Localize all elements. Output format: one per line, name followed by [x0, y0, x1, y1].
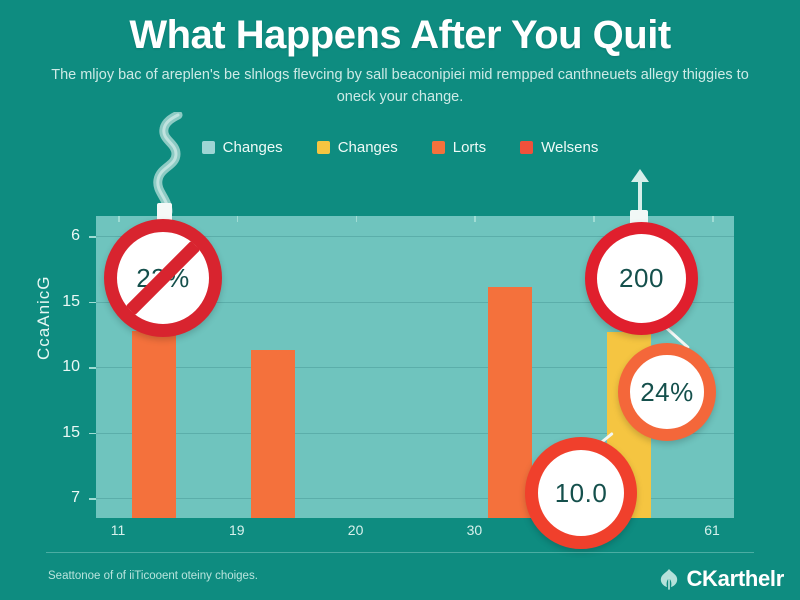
x-tick-label: 11 [111, 522, 126, 538]
x-tick-mark [356, 216, 358, 222]
x-tick-mark [118, 216, 120, 222]
bar[interactable] [251, 350, 295, 518]
legend-item[interactable]: Lorts [432, 139, 486, 156]
value-10-badge[interactable]: 10.0 [525, 437, 637, 549]
chart-legend: ChangesChangesLortsWelsens [0, 139, 800, 156]
footer-note: Seattonoe of of iiTicooent oteiny choige… [48, 570, 258, 582]
legend-swatch [317, 141, 330, 154]
x-tick-mark [593, 216, 595, 222]
legend-label: Lorts [453, 139, 486, 156]
y-tick-label: 15 [62, 293, 80, 311]
infographic-canvas: What Happens After You Quit The mljoy ba… [0, 0, 800, 600]
y-tick-label: 15 [62, 424, 80, 442]
x-tick-label: 61 [704, 522, 720, 538]
value-24pct-badge-value: 24% [640, 377, 694, 408]
legend-swatch [432, 141, 445, 154]
legend-item[interactable]: Welsens [520, 139, 598, 156]
value-200-badge-value: 200 [619, 263, 664, 294]
x-tick-label: 19 [229, 522, 245, 538]
x-tick-mark [474, 216, 476, 222]
x-tick-mark [712, 216, 714, 222]
smoke-wisp-icon [138, 112, 204, 216]
x-tick-label: 20 [348, 522, 364, 538]
value-10-badge-value: 10.0 [555, 478, 608, 509]
y-tick-mark [89, 498, 96, 500]
legend-swatch [520, 141, 533, 154]
brand-name: CKarthelr [686, 566, 784, 592]
legend-label: Changes [338, 139, 398, 156]
y-tick-label: 7 [71, 489, 80, 507]
legend-label: Welsens [541, 139, 598, 156]
y-tick-mark [89, 433, 96, 435]
y-tick-label: 10 [62, 358, 80, 376]
footer-divider [46, 552, 754, 553]
no-smoking-badge[interactable]: 23% [104, 219, 222, 337]
y-tick-mark [89, 236, 96, 238]
legend-item[interactable]: Changes [202, 139, 283, 156]
leaf-logo-icon [657, 567, 681, 591]
x-tick-label: 30 [467, 522, 483, 538]
y-tick-mark [89, 302, 96, 304]
bar[interactable] [132, 331, 176, 518]
legend-item[interactable]: Changes [317, 139, 398, 156]
value-200-badge[interactable]: 200 [585, 222, 698, 335]
page-subtitle: The mljoy bac of areplen's be slnlogs fl… [50, 65, 750, 109]
y-axis-title: CcaAnicG [34, 275, 54, 360]
legend-label: Changes [223, 139, 283, 156]
x-tick-mark [237, 216, 239, 222]
y-tick-label: 6 [71, 227, 80, 245]
y-tick-mark [89, 367, 96, 369]
page-title: What Happens After You Quit [0, 14, 800, 56]
header: What Happens After You Quit The mljoy ba… [0, 14, 800, 109]
brand-lockup: CKarthelr [657, 566, 784, 592]
value-24pct-badge[interactable]: 24% [618, 343, 716, 441]
